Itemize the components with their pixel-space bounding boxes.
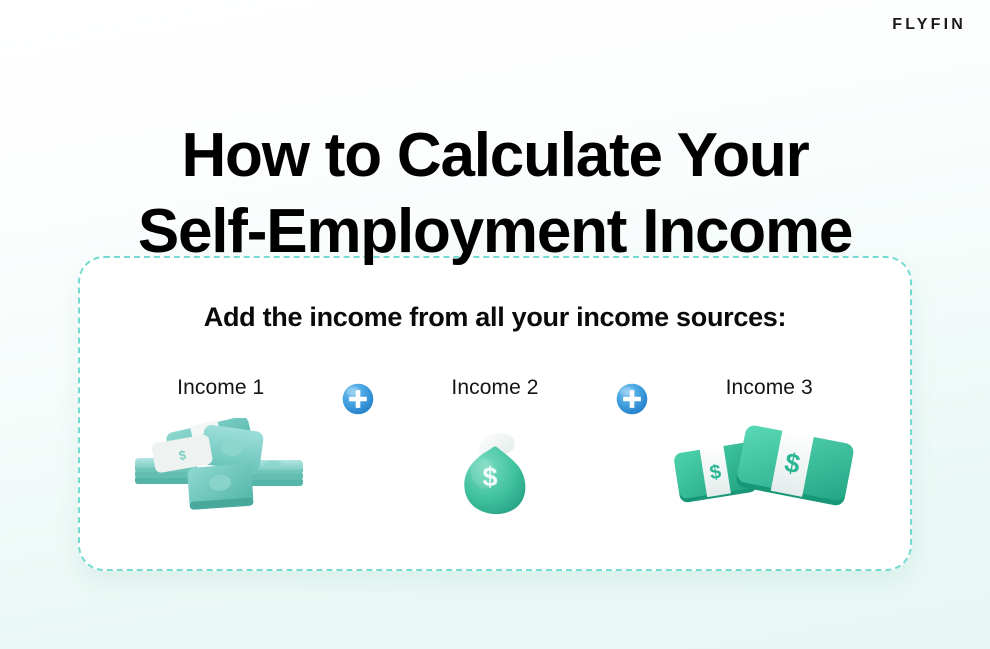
page-title: How to Calculate Your Self-Employment In… (0, 118, 990, 272)
headline-highlight: Self-Employment (138, 194, 626, 272)
svg-text:$: $ (482, 462, 497, 492)
income-equation-row: Income 1 (114, 376, 876, 524)
income-item-2: Income 2 (388, 376, 602, 524)
money-bag-illustration: $ (435, 416, 555, 524)
operator-plus-1: + (328, 376, 389, 416)
income-label-1: Income 1 (177, 376, 264, 400)
plus-icon (341, 382, 375, 416)
income-item-1: Income 1 (114, 376, 328, 524)
cash-bundles-illustration: $ $ (669, 416, 869, 524)
income-label-2: Income 2 (451, 376, 538, 400)
operator-plus-2: + (602, 376, 663, 416)
income-label-3: Income 3 (726, 376, 813, 400)
income-item-3: Income 3 (662, 376, 876, 524)
plus-icon (615, 382, 649, 416)
income-sources-card: Add the income from all your income sour… (78, 256, 912, 571)
poster-canvas: FLYFIN How to Calculate Your Self-Employ… (0, 0, 990, 649)
headline-line-1: How to Calculate Your (0, 118, 990, 194)
headline-highlight-text: Self-Employment (138, 197, 626, 266)
card-title: Add the income from all your income sour… (80, 302, 910, 333)
cash-stacks-illustration: $ (131, 416, 311, 524)
flyfin-logo: FLYFIN (892, 16, 966, 34)
